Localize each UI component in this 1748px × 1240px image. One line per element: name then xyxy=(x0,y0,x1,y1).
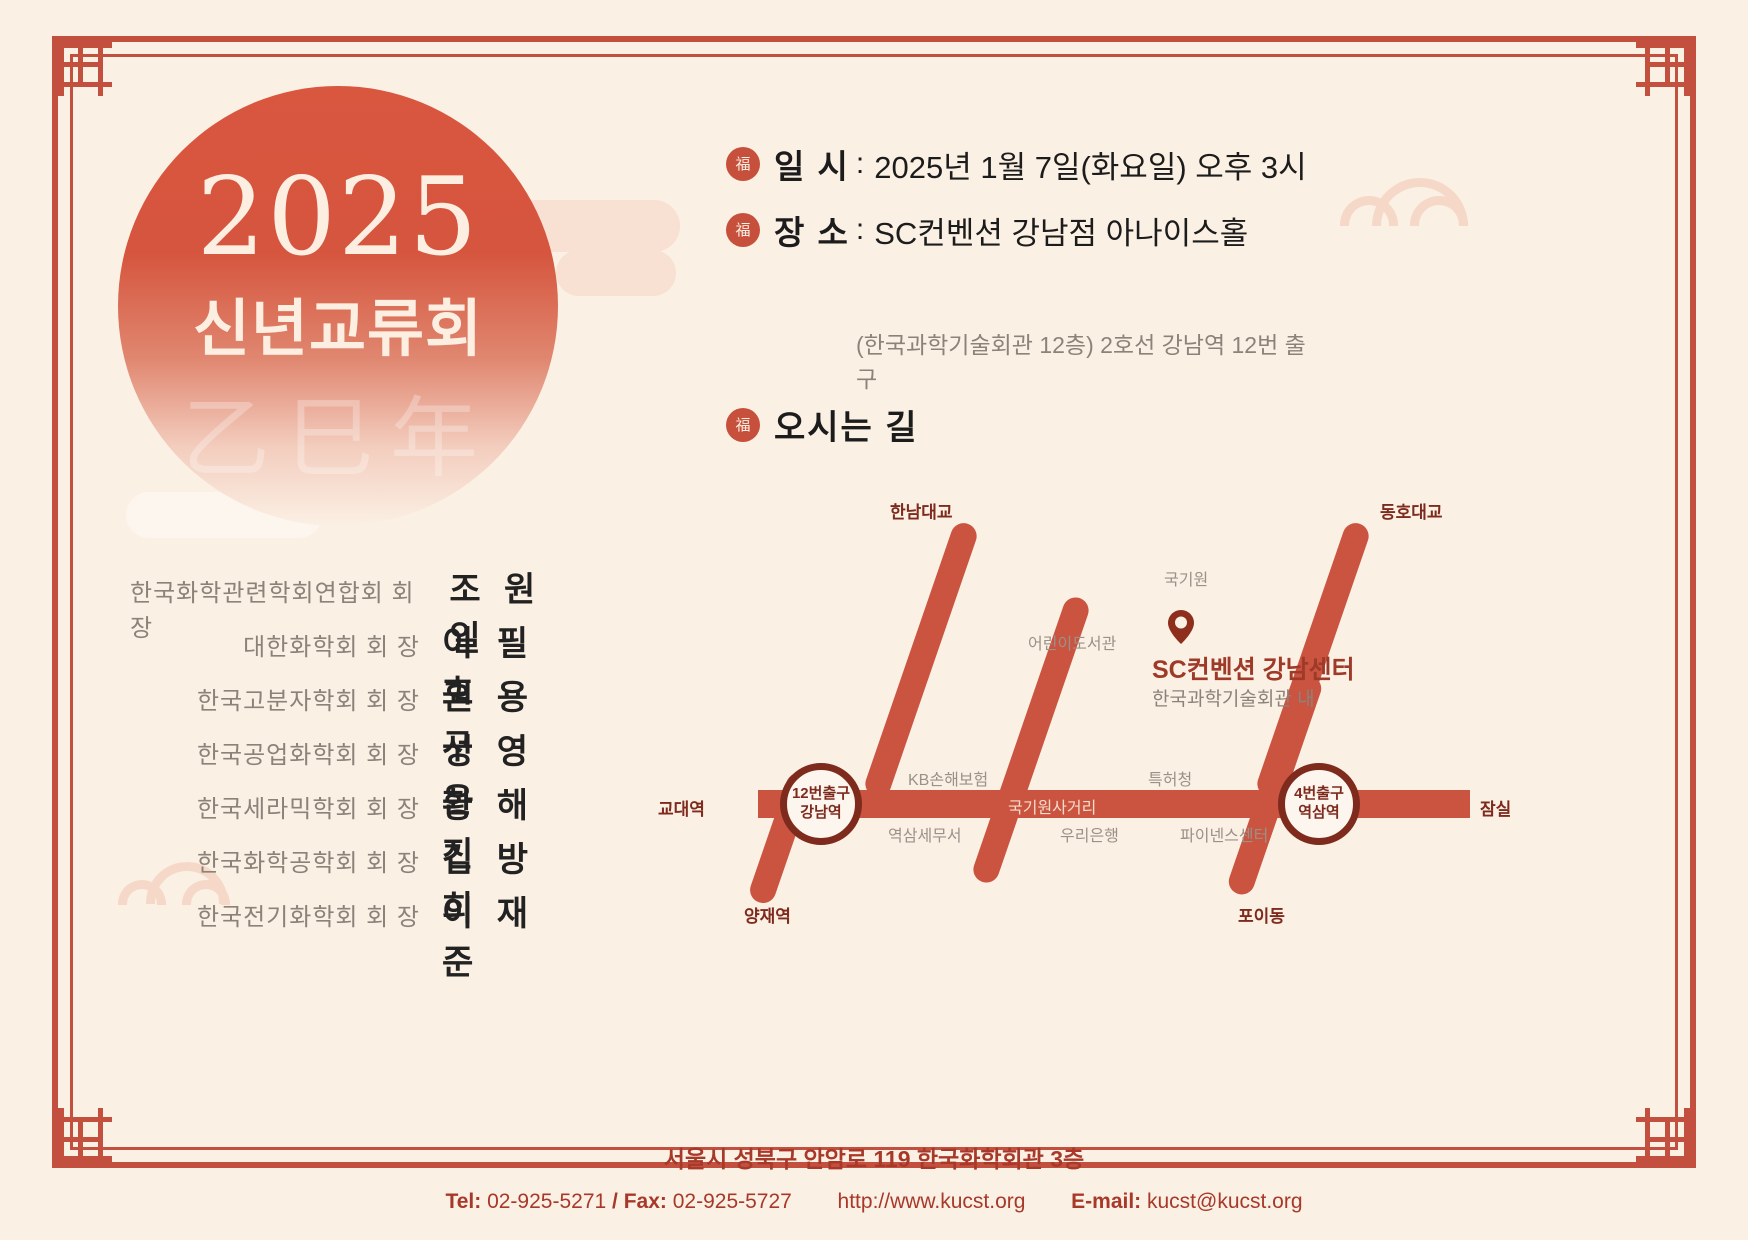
footer-separator: / xyxy=(612,1190,618,1213)
map-landmark-woori-bank: 우리은행 xyxy=(1060,822,1119,846)
event-place-row: 福 장 소 : SC컨벤션 강남점 아나이스홀 (한국과학기술회관 12층) 2… xyxy=(726,206,1307,254)
event-place-subtext: (한국과학기술회관 12층) 2호선 강남역 12번 출구 xyxy=(856,326,1307,394)
footer-email-label: E-mail: xyxy=(1071,1190,1141,1213)
station-marker-gangnam[interactable]: 12번출구 강남역 xyxy=(780,763,862,845)
officers-list: 한국화학관련학회연합회 회 장 조 원 일 대한화학회 회 장 이 필 호 한국… xyxy=(130,562,570,940)
fu-badge-icon: 福 xyxy=(726,408,760,442)
map-endpoint-hannam-bridge: 한남대교 xyxy=(890,498,953,523)
map-landmark-patent-office: 특허청 xyxy=(1148,766,1192,790)
officer-organization: 한국화학공학회 회 장 xyxy=(197,843,420,878)
officer-name: 이 재 준 xyxy=(442,886,570,984)
fu-badge-icon: 福 xyxy=(726,147,760,181)
map-endpoint-jamsil: 잠실 xyxy=(1480,795,1511,820)
logo-year: 2025 xyxy=(118,164,558,272)
venue-name-label: SC컨벤션 강남센터 xyxy=(1152,650,1355,686)
footer-fax-label: Fax: xyxy=(624,1190,667,1213)
station-marker-yeoksam[interactable]: 4번출구 역삼역 xyxy=(1278,763,1360,845)
cloud-shape-2 xyxy=(556,250,676,296)
footer: 서울시 성북구 안암로 119 한국화학회관 3층 Tel: 02-925-52… xyxy=(0,1140,1748,1214)
corner-ornament-top-right xyxy=(1636,42,1690,96)
officer-organization: 대한화학회 회 장 xyxy=(243,627,420,662)
corner-ornament-top-left xyxy=(58,42,112,96)
station-exit-yeoksam: 4번출구 xyxy=(1294,785,1344,804)
officer-row: 한국화학관련학회연합회 회 장 조 원 일 xyxy=(130,562,570,604)
event-logo-circle: 2025 신년교류회 乙巳年 xyxy=(118,86,558,526)
footer-website-link[interactable]: http://www.kucst.org xyxy=(838,1190,1026,1213)
map-landmark-kukkiwon-intersection: 국기원사거리 xyxy=(1008,794,1096,818)
map-landmark-finance-center: 파이넨스센터 xyxy=(1180,822,1268,846)
event-place-colon: : xyxy=(856,213,864,247)
footer-fax-value: 02-925-5727 xyxy=(673,1190,792,1213)
officer-organization: 한국세라믹학회 회 장 xyxy=(197,789,420,824)
station-name-gangnam: 강남역 xyxy=(800,804,841,823)
road-horizontal-main xyxy=(758,790,1470,818)
event-place-label: 장 소 xyxy=(774,206,850,254)
officer-row: 한국공업화학회 회 장 성 영 은 xyxy=(130,724,570,766)
officer-row: 한국전기화학회 회 장 이 재 준 xyxy=(130,886,570,928)
directions-label: 오시는 길 xyxy=(774,400,919,449)
road-hannam-bridge xyxy=(862,520,980,801)
event-place-value: SC컨벤션 강남점 아나이스홀 xyxy=(874,208,1248,253)
event-date-value: 2025년 1월 7일(화요일) 오후 3시 xyxy=(874,142,1306,187)
footer-tel-label: Tel: xyxy=(445,1190,481,1213)
station-exit-gangnam: 12번출구 xyxy=(792,785,850,804)
map-endpoint-yangjae: 양재역 xyxy=(744,902,791,927)
location-pin-icon xyxy=(1168,610,1194,644)
event-date-row: 福 일 시 : 2025년 1월 7일(화요일) 오후 3시 xyxy=(726,140,1307,188)
map-endpoint-gyodae: 교대역 xyxy=(658,795,705,820)
footer-address: 서울시 성북구 안암로 119 한국화학회관 3층 xyxy=(0,1140,1748,1174)
officer-row: 한국세라믹학회 회 장 황 해 진 xyxy=(130,778,570,820)
footer-email-link[interactable]: kucst@kucst.org xyxy=(1147,1190,1303,1213)
officer-row: 한국화학공학회 회 장 김 방 희 xyxy=(130,832,570,874)
footer-tel-value: 02-925-5271 xyxy=(487,1190,606,1213)
officer-organization: 한국고분자학회 회 장 xyxy=(197,681,420,716)
map-endpoint-poidong: 포이동 xyxy=(1238,902,1285,927)
event-info-block: 福 일 시 : 2025년 1월 7일(화요일) 오후 3시 福 장 소 : S… xyxy=(726,140,1307,272)
venue-sub-label: 한국과학기술회관 내 xyxy=(1152,684,1315,711)
directions-heading: 福 오시는 길 xyxy=(726,400,919,449)
event-date-colon: : xyxy=(856,147,864,181)
logo-title: 신년교류회 xyxy=(118,278,558,368)
officer-organization: 한국전기화학회 회 장 xyxy=(197,897,420,932)
map-landmark-kukkiwon: 국기원 xyxy=(1164,566,1208,590)
map-landmark-kb-insurance: KB손해보험 xyxy=(908,766,988,790)
location-map: 한남대교 동호대교 교대역 잠실 양재역 포이동 국기원 어린이도서관 KB손해… xyxy=(640,470,1540,930)
officer-organization: 한국공업화학회 회 장 xyxy=(197,735,420,770)
footer-contact-line: Tel: 02-925-5271 / Fax: 02-925-5727 http… xyxy=(0,1190,1748,1214)
station-name-yeoksam: 역삼역 xyxy=(1298,804,1339,823)
officer-row: 한국고분자학회 회 장 권 용 구 xyxy=(130,670,570,712)
logo-hanja-watermark: 乙巳年 xyxy=(118,368,558,495)
map-landmark-childrens-library: 어린이도서관 xyxy=(1028,630,1116,654)
fu-badge-icon: 福 xyxy=(726,213,760,247)
event-date-label: 일 시 xyxy=(774,140,850,188)
map-landmark-yeoksam-tax-office: 역삼세무서 xyxy=(888,822,962,846)
map-endpoint-dongho-bridge: 동호대교 xyxy=(1380,498,1443,523)
